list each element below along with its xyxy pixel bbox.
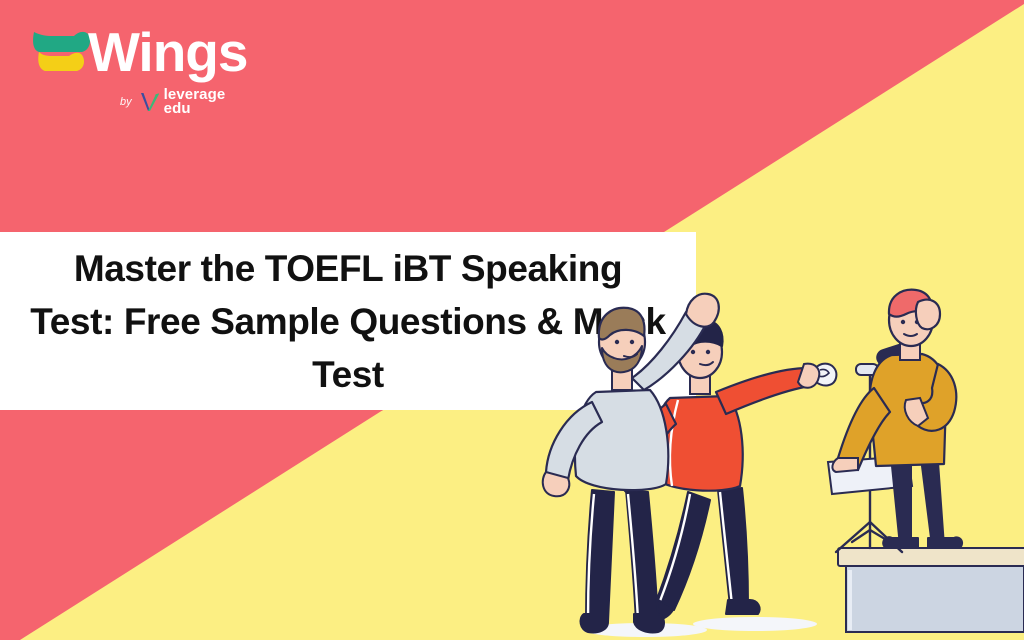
- blog-banner: Wings by leverage edu Master the TOEFL i…: [0, 0, 1024, 640]
- logo-wordmark: Wings: [88, 20, 248, 84]
- logo-primary-row: Wings: [30, 22, 250, 84]
- leverage-check-icon: [137, 89, 163, 115]
- figure-nervous-speaker: [832, 290, 962, 548]
- stage-platform: [838, 548, 1024, 632]
- edu-word: edu: [164, 102, 226, 116]
- leverage-edu-wordmark: leverage edu: [164, 88, 226, 116]
- illustration-public-speaking: [540, 280, 1024, 640]
- wing-icon: [30, 30, 94, 72]
- logo-byline: by leverage edu: [120, 88, 225, 116]
- wings-logo[interactable]: Wings by leverage edu: [30, 22, 250, 132]
- shadow-figure-2: [693, 617, 817, 631]
- logo-by-label: by: [120, 96, 132, 108]
